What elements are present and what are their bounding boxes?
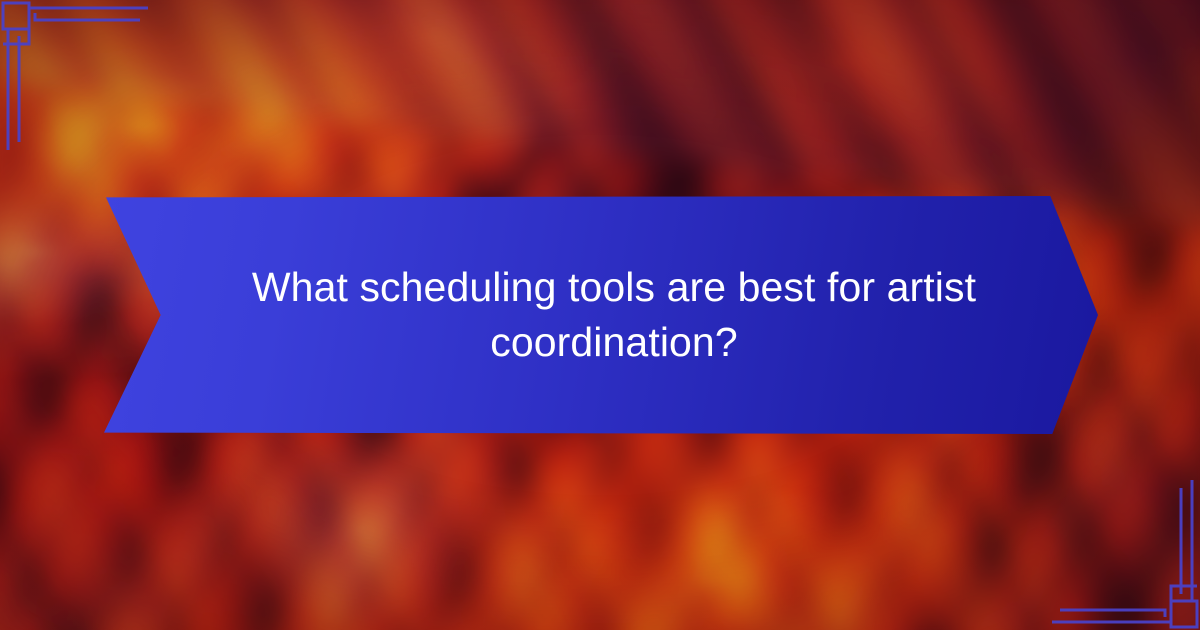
circuit-corner-top-left-icon	[0, 0, 190, 190]
social-card-canvas: What scheduling tools are best for artis…	[0, 0, 1200, 630]
circuit-corner-bottom-right-icon	[1010, 440, 1200, 630]
headline-banner: What scheduling tools are best for artis…	[104, 196, 1098, 434]
headline-text: What scheduling tools are best for artis…	[198, 260, 1004, 370]
